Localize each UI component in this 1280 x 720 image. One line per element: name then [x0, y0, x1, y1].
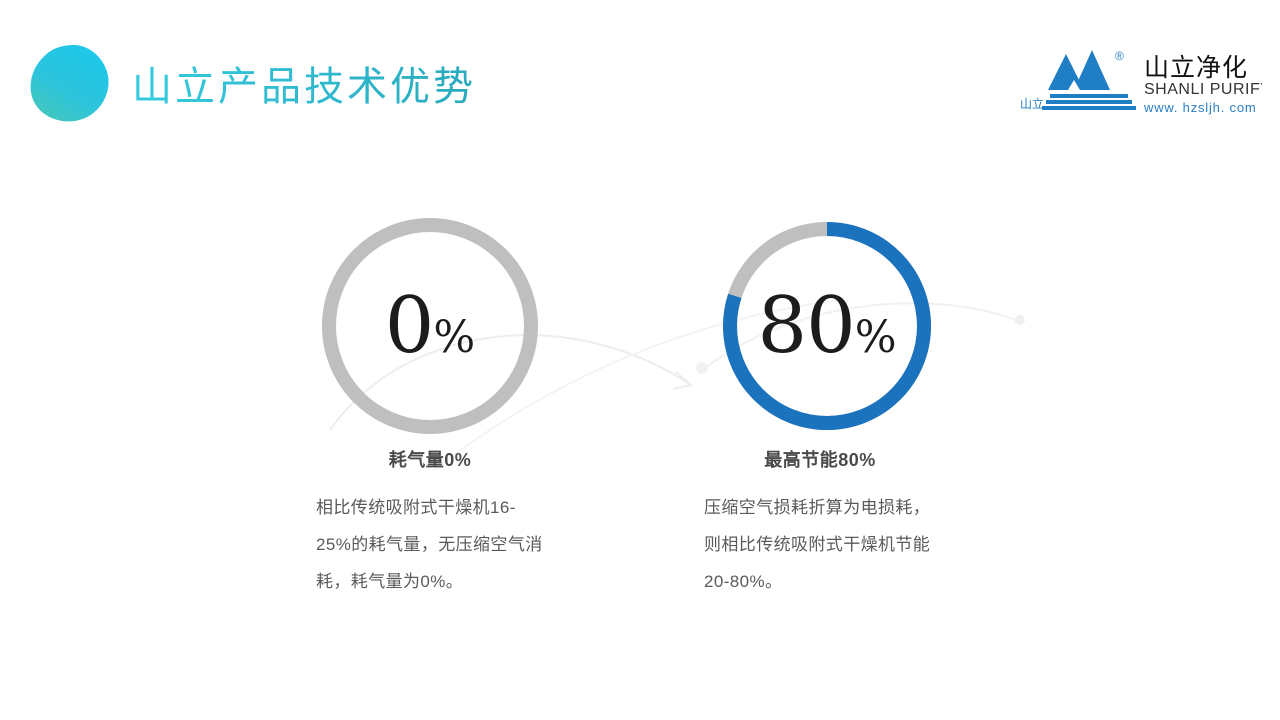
stat-card-left: 耗气量0% 相比传统吸附式干燥机16-25%的耗气量，无压缩空气消耗，耗气量为0… [300, 449, 560, 600]
donut-chart-right: 80 % [712, 211, 942, 441]
stat-card-right-body: 压缩空气损耗折算为电损耗，则相比传统吸附式干燥机节能20-80%。 [690, 489, 950, 600]
decor-curve-arrow [673, 372, 691, 389]
logo-mark-label: 山立 [1020, 96, 1044, 111]
decor-dot-2 [1015, 315, 1025, 325]
donut-left-unit: % [433, 316, 475, 360]
stat-card-left-body: 相比传统吸附式干燥机16-25%的耗气量，无压缩空气消耗，耗气量为0%。 [300, 489, 560, 600]
page-title: 山立产品技术优势 [132, 62, 476, 112]
stat-card-right-heading: 最高节能80% [690, 449, 950, 471]
donut-right-number: 80 [757, 287, 854, 365]
slide-header: 山立产品技术优势 山立 ® 山立净化 SHANLI PURIFY www. hz… [0, 0, 1280, 160]
decor-dot-1 [696, 362, 708, 374]
stat-card-left-heading: 耗气量0% [300, 449, 560, 471]
stat-card-right: 最高节能80% 压缩空气损耗折算为电损耗，则相比传统吸附式干燥机节能20-80%… [690, 449, 950, 600]
donut-right-value: 80 % [757, 287, 896, 365]
logo-name-cn: 山立净化 [1144, 53, 1248, 82]
donut-right-center: 80 % [712, 211, 942, 441]
donut-chart-left: 0 % [315, 211, 545, 441]
donut-left-center: 0 % [315, 211, 545, 441]
logo-website: www. hzsljh. com [1143, 100, 1257, 115]
donut-left-number: 0 [385, 287, 434, 365]
brand-logo: 山立 ® 山立净化 SHANLI PURIFY www. hzsljh. com [1018, 44, 1262, 120]
donut-right-unit: % [855, 316, 897, 360]
logo-name-en: SHANLI PURIFY [1144, 81, 1262, 98]
donut-left-value: 0 % [385, 287, 475, 365]
registered-mark-icon: ® [1115, 49, 1124, 63]
blob-decoration-icon [27, 43, 111, 123]
